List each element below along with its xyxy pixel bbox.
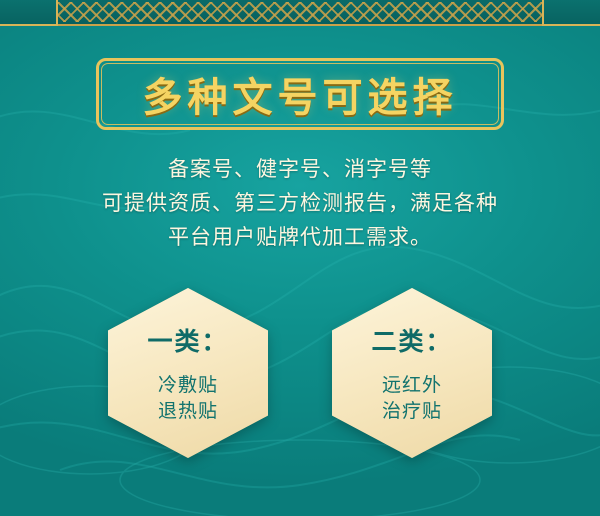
category-hexagon-2: 二类： 远红外 治疗贴 xyxy=(332,288,492,458)
corner-ornament-right xyxy=(542,0,600,26)
category-2-title: 二类： xyxy=(371,322,452,358)
category-2-item-1: 远红外 xyxy=(382,372,442,398)
category-1-item-1: 冷敷贴 xyxy=(158,372,218,398)
ornamental-top-border xyxy=(0,0,600,26)
category-2-item-2: 治疗贴 xyxy=(382,398,442,424)
page-title: 多种文号可选择 xyxy=(96,58,504,130)
description-line-3: 平台用户贴牌代加工需求。 xyxy=(0,220,600,254)
hexagon-content-1: 一类： 冷敷贴 退热贴 xyxy=(108,288,268,458)
corner-ornament-left xyxy=(0,0,58,26)
poster-canvas: 多种文号可选择 备案号、健字号、消字号等 可提供资质、第三方检测报告，满足各种 … xyxy=(0,0,600,516)
title-plaque: 多种文号可选择 xyxy=(96,58,504,130)
category-hexagon-1: 一类： 冷敷贴 退热贴 xyxy=(108,288,268,458)
category-hexagon-group: 一类： 冷敷贴 退热贴 二类： 远红外 治疗贴 xyxy=(0,288,600,458)
description-line-1: 备案号、健字号、消字号等 xyxy=(0,152,600,186)
category-1-title: 一类： xyxy=(147,322,228,358)
category-1-item-2: 退热贴 xyxy=(158,398,218,424)
description-line-2: 可提供资质、第三方检测报告，满足各种 xyxy=(0,186,600,220)
description-block: 备案号、健字号、消字号等 可提供资质、第三方检测报告，满足各种 平台用户贴牌代加… xyxy=(0,152,600,254)
hexagon-content-2: 二类： 远红外 治疗贴 xyxy=(332,288,492,458)
weave-pattern xyxy=(0,2,600,22)
